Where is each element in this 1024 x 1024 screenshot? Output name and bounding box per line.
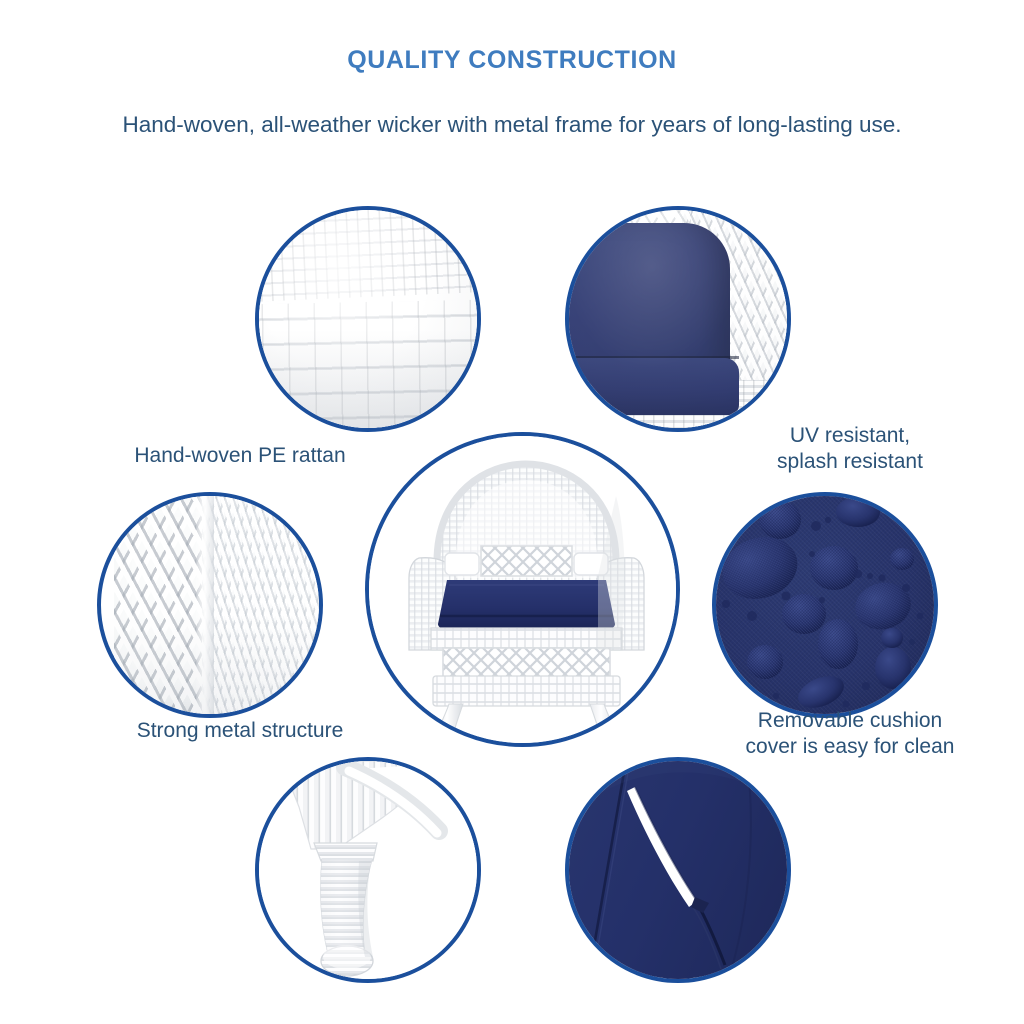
page-subtitle: Hand-woven, all-weather wicker with meta… [0,112,1024,138]
cushion-zipper-image [569,761,787,979]
caption-removable-cushion-cover: Removable cushion cover is easy for clea… [690,708,1010,760]
cushion-highlight [569,210,787,428]
metal-frame-closeup-image [101,496,319,714]
feature-circle-wicker-leg-detail [255,757,481,983]
feature-circle-hand-woven-pe-rattan [255,206,481,432]
caption-strong-metal-structure: Strong metal structure [55,718,425,744]
rattan-weave-image [259,210,477,428]
infographic-stage: QUALITY CONSTRUCTION Hand-woven, all-wea… [0,0,1024,1024]
wicker-leg-image [259,761,477,979]
metal-shading [101,616,319,714]
caption-uv-splash-resistant: UV resistant, splash resistant [700,423,1000,475]
caption-hand-woven-pe-rattan: Hand-woven PE rattan [60,443,420,469]
wicker-leg-illustration [259,761,477,979]
cushion-closeup-image [569,210,787,428]
full-chair-image [369,436,676,743]
page-title: QUALITY CONSTRUCTION [0,46,1024,75]
wicker-armchair-illustration [369,436,676,743]
zipper-overlay [569,761,787,979]
water-droplets-overlay [716,496,934,714]
feature-circle-cushion-zipper [565,757,791,983]
feature-circle-strong-metal-structure [97,492,323,718]
water-droplets-image [716,496,934,714]
feature-circle-uv-splash-resistant [565,206,791,432]
feature-circle-full-chair [365,432,680,747]
feature-circle-removable-cushion-cover [712,492,938,718]
rattan-shading [259,330,477,428]
